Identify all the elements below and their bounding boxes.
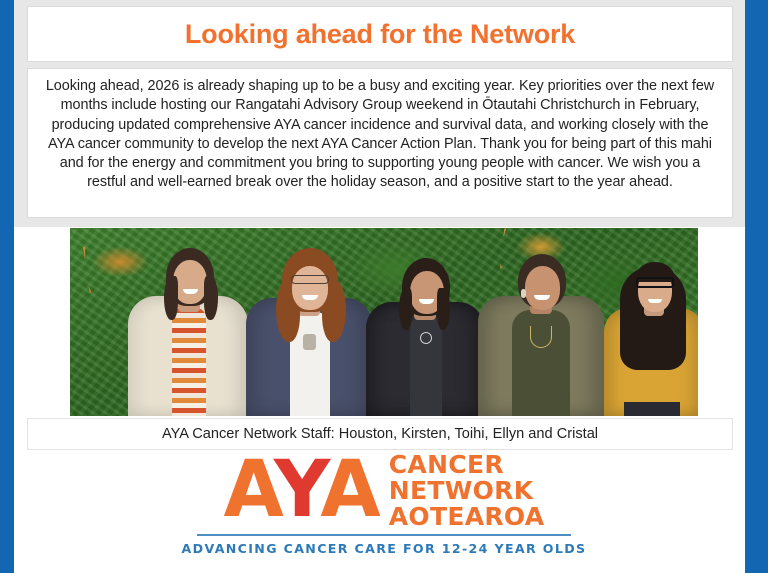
person-ellyn-face (525, 266, 560, 310)
person-kirsten-necklace-icon (303, 334, 316, 350)
person-cristal-smile-icon (648, 299, 662, 303)
person-houston-face (173, 260, 207, 304)
aya-monogram: A Y A (224, 460, 375, 521)
person-toihi (366, 244, 484, 416)
staff-photo (70, 228, 698, 416)
person-toihi-hair-side (399, 288, 412, 330)
person-ellyn-necklace-icon (530, 326, 552, 348)
person-toihi-necklace-icon (420, 332, 432, 344)
page-title: Looking ahead for the Network (28, 7, 732, 61)
title-card: Looking ahead for the Network (27, 6, 733, 62)
aya-tagline: ADVANCING CANCER CARE FOR 12-24 YEAR OLD… (182, 541, 587, 556)
person-cristal-trousers (624, 402, 680, 416)
person-cristal (598, 240, 698, 416)
aya-word-cancer: CANCER (389, 452, 545, 478)
aya-logo-divider (197, 534, 571, 536)
body-paragraph: Looking ahead, 2026 is already shaping u… (28, 69, 732, 193)
person-houston-hair-side (164, 276, 178, 320)
person-kirsten-glasses-icon (291, 275, 329, 284)
body-card: Looking ahead, 2026 is already shaping u… (27, 68, 733, 218)
person-houston-hair-side (204, 276, 218, 320)
person-ellyn-earring-icon (521, 289, 526, 298)
aya-word-aotearoa: AOTEAROA (389, 504, 545, 530)
aya-letter-y: Y (274, 460, 324, 521)
newsletter-page: Looking ahead for the Network Looking ah… (0, 0, 768, 573)
aya-logo-row: A Y A CANCER NETWORK AOTEAROA (224, 452, 545, 529)
person-kirsten (246, 238, 372, 416)
aya-logo: A Y A CANCER NETWORK AOTEAROA ADVANCING … (0, 452, 768, 556)
aya-letter-a2: A (320, 460, 374, 521)
person-kirsten-smile-icon (302, 295, 318, 300)
person-toihi-hair-side (437, 288, 450, 330)
person-ellyn (478, 238, 604, 416)
person-cristal-glasses-icon (636, 277, 674, 288)
caption-card: AYA Cancer Network Staff: Houston, Kirst… (27, 418, 733, 450)
aya-letter-a1: A (224, 460, 278, 521)
photo-caption: AYA Cancer Network Staff: Houston, Kirst… (28, 419, 732, 449)
aya-wordmark: CANCER NETWORK AOTEAROA (389, 452, 545, 529)
person-kirsten-face (292, 266, 328, 310)
person-ellyn-smile-icon (534, 295, 550, 300)
aya-word-network: NETWORK (389, 478, 545, 504)
person-houston (128, 240, 248, 416)
person-toihi-inner-top (410, 316, 442, 416)
person-houston-striped-top (172, 308, 206, 416)
